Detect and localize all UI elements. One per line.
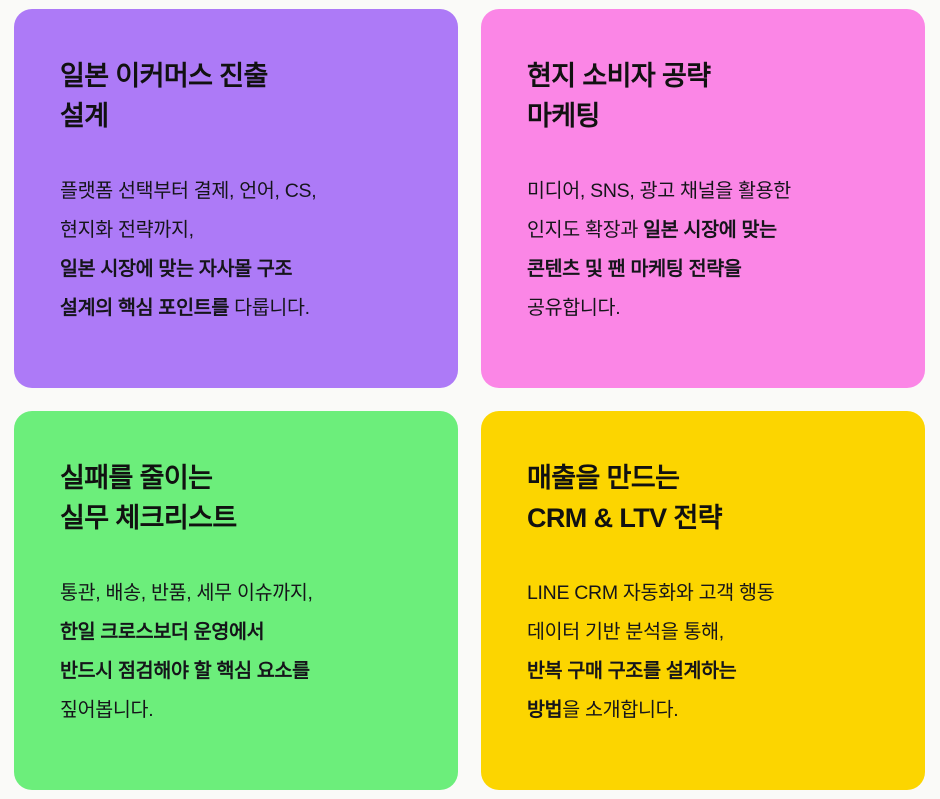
card-body: 통관, 배송, 반품, 세무 이슈까지,한일 크로스보더 운영에서반드시 점검해… <box>60 574 428 730</box>
card-body-line: 방법을 소개합니다. <box>527 691 895 730</box>
card-body-line: 짚어봅니다. <box>60 691 428 730</box>
card-body-text: 짚어봅니다. <box>60 699 153 721</box>
card-body-line: 데이터 기반 분석을 통해, <box>527 613 895 652</box>
card-body-emphasis: 설계의 핵심 포인트를 <box>60 297 229 319</box>
card-body-text: 을 소개합니다. <box>562 699 678 721</box>
card-body-emphasis: 반드시 점검해야 할 핵심 요소를 <box>60 660 310 682</box>
card-body-emphasis: 방법 <box>527 699 562 721</box>
card-body-text: 공유합니다. <box>527 297 620 319</box>
card-body-line: 인지도 확장과 일본 시장에 맞는 <box>527 211 895 250</box>
card-body: LINE CRM 자동화와 고객 행동데이터 기반 분석을 통해,반복 구매 구… <box>527 574 895 730</box>
card-body-emphasis: 일본 시장에 맞는 자사몰 구조 <box>60 258 292 280</box>
card-title: 실패를 줄이는 실무 체크리스트 <box>60 458 428 538</box>
feature-card-grid: 일본 이커머스 진출 설계플랫폼 선택부터 결제, 언어, CS,현지화 전략까… <box>0 0 940 799</box>
card-body-line: 한일 크로스보더 운영에서 <box>60 613 428 652</box>
card-body-line: LINE CRM 자동화와 고객 행동 <box>527 574 895 613</box>
card-body: 미디어, SNS, 광고 채널을 활용한인지도 확장과 일본 시장에 맞는콘텐츠… <box>527 172 895 328</box>
card-body-line: 미디어, SNS, 광고 채널을 활용한 <box>527 172 895 211</box>
feature-card-japan-ecommerce-entry-design[interactable]: 일본 이커머스 진출 설계플랫폼 선택부터 결제, 언어, CS,현지화 전략까… <box>14 9 458 388</box>
card-body-emphasis: 반복 구매 구조를 설계하는 <box>527 660 736 682</box>
feature-card-crm-ltv-strategy[interactable]: 매출을 만드는 CRM & LTV 전략LINE CRM 자동화와 고객 행동데… <box>481 411 925 790</box>
card-body-text: 통관, 배송, 반품, 세무 이슈까지, <box>60 582 313 604</box>
card-title: 매출을 만드는 CRM & LTV 전략 <box>527 458 895 538</box>
card-body-emphasis: 콘텐츠 및 팬 마케팅 전략을 <box>527 258 742 280</box>
card-body-line: 현지화 전략까지, <box>60 211 428 250</box>
feature-card-practical-checklist[interactable]: 실패를 줄이는 실무 체크리스트통관, 배송, 반품, 세무 이슈까지,한일 크… <box>14 411 458 790</box>
card-body: 플랫폼 선택부터 결제, 언어, CS,현지화 전략까지,일본 시장에 맞는 자… <box>60 172 428 328</box>
card-body-line: 통관, 배송, 반품, 세무 이슈까지, <box>60 574 428 613</box>
card-body-emphasis: 일본 시장에 맞는 <box>643 219 777 241</box>
card-body-line: 일본 시장에 맞는 자사몰 구조 <box>60 250 428 289</box>
card-body-text: 인지도 확장과 <box>527 219 643 241</box>
card-body-emphasis: 한일 크로스보더 운영에서 <box>60 621 264 643</box>
card-body-text: 데이터 기반 분석을 통해, <box>527 621 724 643</box>
card-title: 일본 이커머스 진출 설계 <box>60 56 428 136</box>
card-body-text: 플랫폼 선택부터 결제, 언어, CS, <box>60 180 316 202</box>
card-body-text: LINE CRM 자동화와 고객 행동 <box>527 582 774 604</box>
card-body-line: 콘텐츠 및 팬 마케팅 전략을 <box>527 250 895 289</box>
feature-card-local-consumer-marketing[interactable]: 현지 소비자 공략 마케팅미디어, SNS, 광고 채널을 활용한인지도 확장과… <box>481 9 925 388</box>
card-body-line: 플랫폼 선택부터 결제, 언어, CS, <box>60 172 428 211</box>
card-body-text: 미디어, SNS, 광고 채널을 활용한 <box>527 180 791 202</box>
card-body-text: 다룹니다. <box>229 297 310 319</box>
card-body-line: 공유합니다. <box>527 289 895 328</box>
card-body-line: 반드시 점검해야 할 핵심 요소를 <box>60 652 428 691</box>
card-body-line: 설계의 핵심 포인트를 다룹니다. <box>60 289 428 328</box>
card-body-text: 현지화 전략까지, <box>60 219 194 241</box>
card-body-line: 반복 구매 구조를 설계하는 <box>527 652 895 691</box>
card-title: 현지 소비자 공략 마케팅 <box>527 56 895 136</box>
